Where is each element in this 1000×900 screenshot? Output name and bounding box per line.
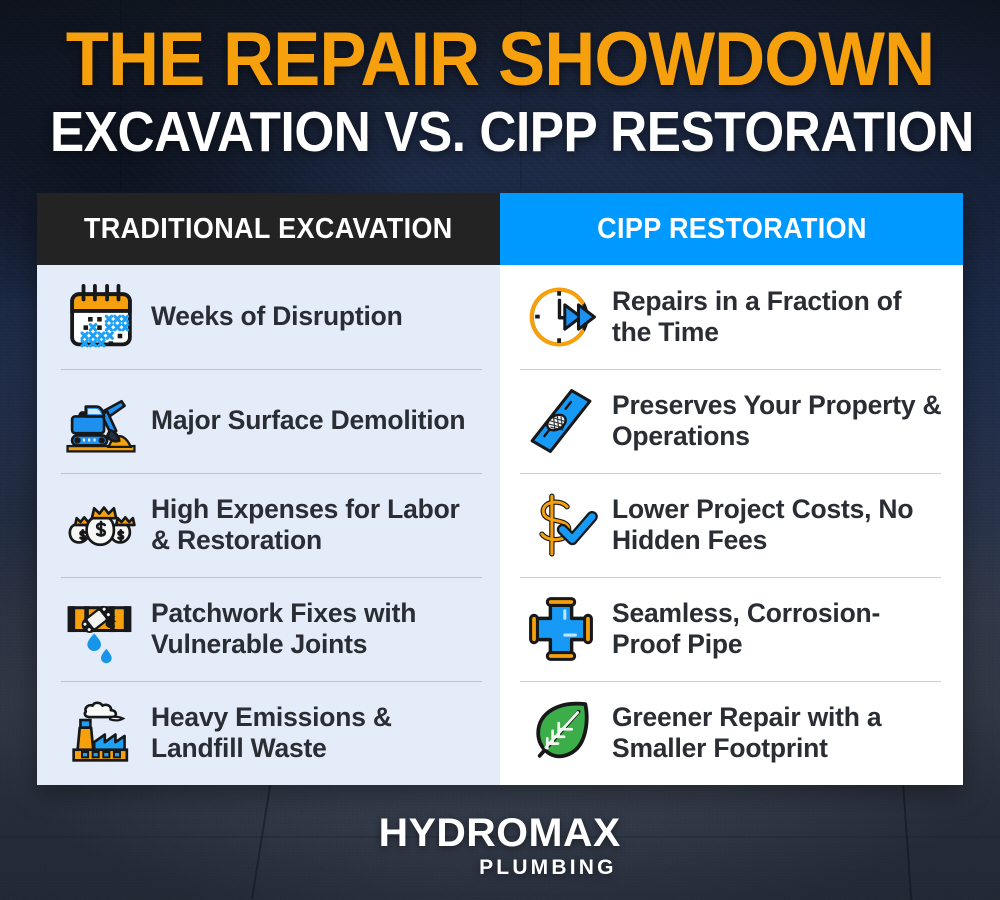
list-item[interactable]: Weeks of Disruption xyxy=(37,265,500,369)
list-item[interactable]: Lower Project Costs, No Hidden Fees xyxy=(500,473,963,577)
patched-pipe-leak-icon xyxy=(63,591,139,667)
list-item-label: Patchwork Fixes with Vulnerable Joints xyxy=(151,598,479,661)
headline-subtitle: EXCAVATION VS. CIPP RESTORATION xyxy=(50,103,950,161)
column-header-right: CIPP RESTORATION xyxy=(500,193,963,265)
list-item[interactable]: Repairs in a Fraction of the Time xyxy=(500,265,963,369)
dollar-check-icon xyxy=(522,487,600,563)
list-item-label: Preserves Your Property & Operations xyxy=(612,390,942,453)
factory-emissions-icon xyxy=(63,695,139,771)
excavator-icon xyxy=(63,383,139,459)
list-item[interactable]: Major Surface Demolition xyxy=(37,369,500,473)
list-item-label: High Expenses for Labor & Restoration xyxy=(151,494,479,557)
column-traditional-excavation: TRADITIONAL EXCAVATION xyxy=(37,193,500,785)
logo-primary-text: HYDROMAX xyxy=(379,813,621,853)
list-item-label: Lower Project Costs, No Hidden Fees xyxy=(612,494,942,557)
list-item-label: Major Surface Demolition xyxy=(151,405,465,436)
list-item-label: Heavy Emissions & Landfill Waste xyxy=(151,702,479,765)
column-cipp-restoration: CIPP RESTORATION Repairs in a Fraction o… xyxy=(500,193,963,785)
cross-pipe-fitting-icon xyxy=(522,591,600,667)
list-item-label: Seamless, Corrosion-Proof Pipe xyxy=(612,598,942,661)
headline-block: THE REPAIR SHOWDOWN EXCAVATION VS. CIPP … xyxy=(0,24,1000,161)
comparison-card: TRADITIONAL EXCAVATION xyxy=(37,193,963,785)
headline-title: THE REPAIR SHOWDOWN xyxy=(35,24,965,97)
list-item[interactable]: Greener Repair with a Smaller Footprint xyxy=(500,681,963,785)
right-row-list: Repairs in a Fraction of the Time xyxy=(500,265,963,785)
column-header-right-label: CIPP RESTORATION xyxy=(597,213,867,246)
green-leaf-icon xyxy=(522,695,600,771)
list-item[interactable]: Heavy Emissions & Landfill Waste xyxy=(37,681,500,785)
road-manhole-icon xyxy=(522,383,600,459)
list-item[interactable]: High Expenses for Labor & Restoration xyxy=(37,473,500,577)
list-item-label: Greener Repair with a Smaller Footprint xyxy=(612,702,942,765)
left-row-list: Weeks of Disruption xyxy=(37,265,500,785)
calendar-icon xyxy=(63,279,139,355)
infographic-canvas: THE REPAIR SHOWDOWN EXCAVATION VS. CIPP … xyxy=(0,0,1000,900)
logo-secondary-text: PLUMBING xyxy=(381,857,618,878)
list-item[interactable]: Preserves Your Property & Operations xyxy=(500,369,963,473)
money-bags-icon xyxy=(63,487,139,563)
brand-logo: HYDROMAX PLUMBING xyxy=(0,813,1000,879)
fast-clock-icon xyxy=(522,279,600,355)
column-header-left: TRADITIONAL EXCAVATION xyxy=(37,193,500,265)
list-item[interactable]: Patchwork Fixes with Vulnerable Joints xyxy=(37,577,500,681)
list-item[interactable]: Seamless, Corrosion-Proof Pipe xyxy=(500,577,963,681)
list-item-label: Repairs in a Fraction of the Time xyxy=(612,286,942,349)
list-item-label: Weeks of Disruption xyxy=(151,301,403,332)
column-header-left-label: TRADITIONAL EXCAVATION xyxy=(84,213,453,246)
